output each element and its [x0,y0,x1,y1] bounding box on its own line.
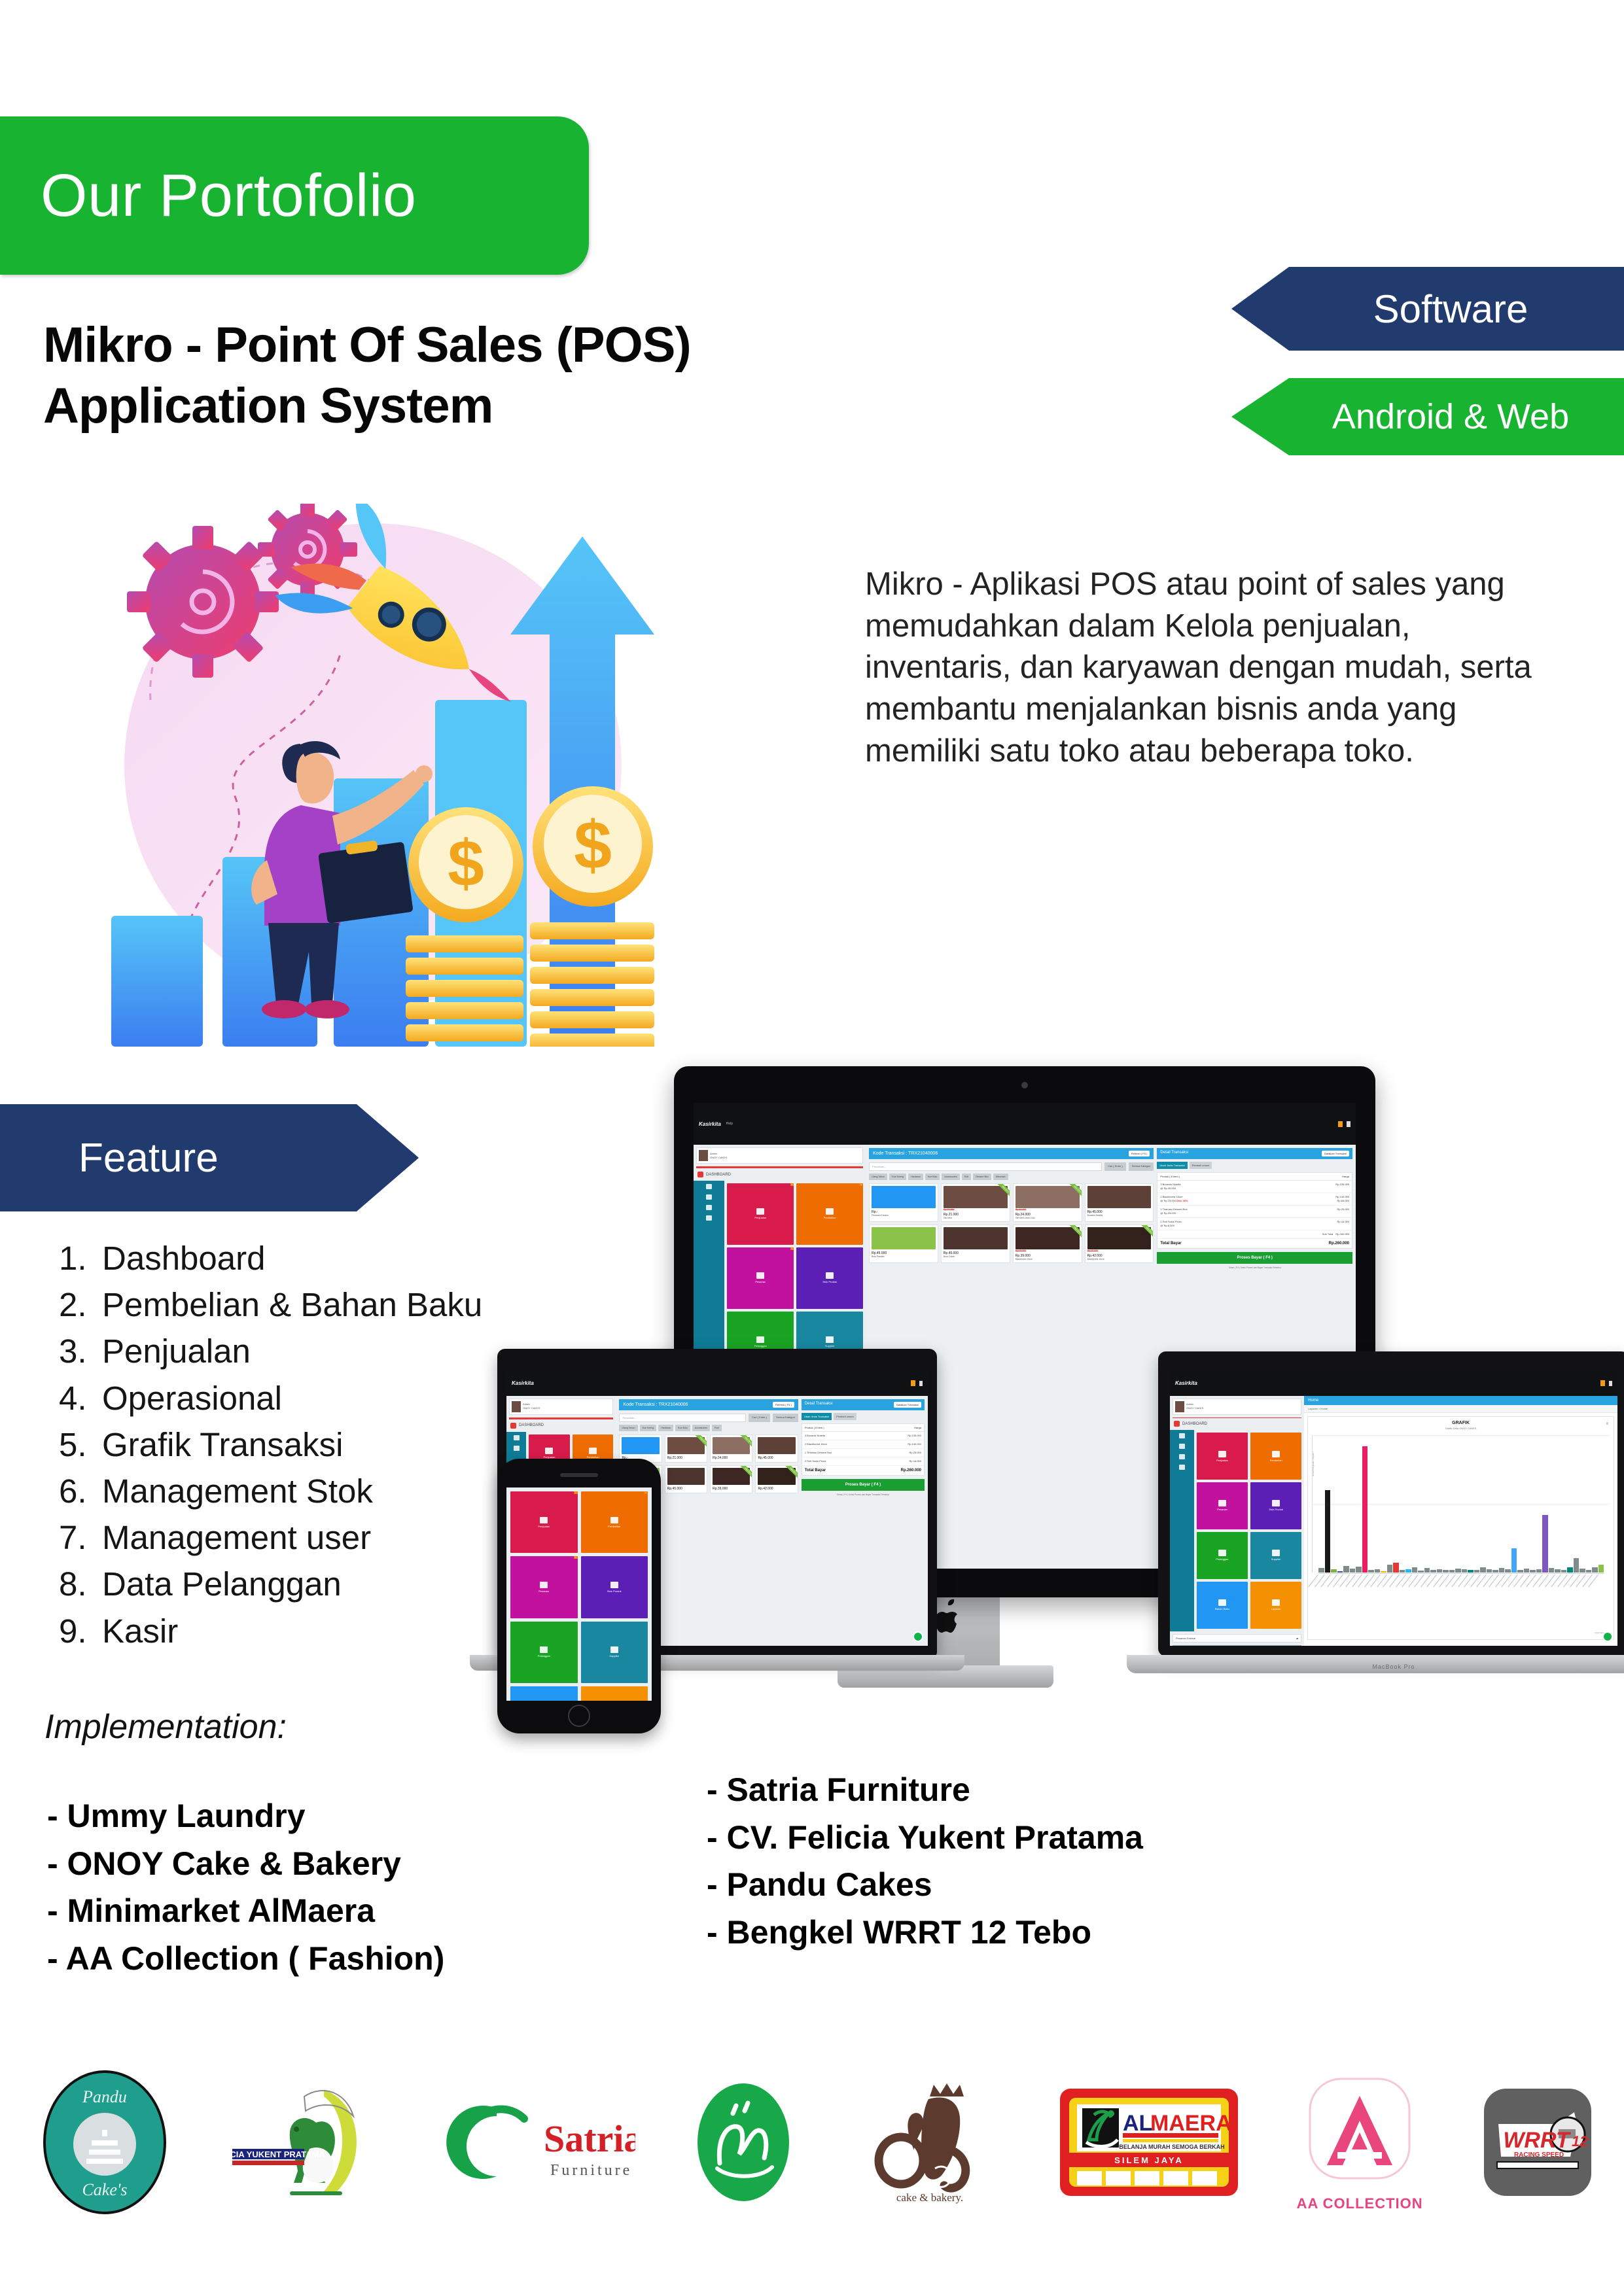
notification-icon[interactable] [911,1380,915,1386]
list-item: 3.Penjualan [59,1328,556,1374]
category-tab[interactable]: Dessert Box [973,1174,991,1180]
tile-label: Pesanan [538,1590,549,1593]
chart-bar [1574,1558,1580,1573]
chart-bar [1443,1570,1449,1573]
buyer-selector[interactable]: Pembeli umum [834,1413,856,1420]
chart-bar [1480,1567,1486,1573]
tile-label: Pelanggan [538,1654,550,1658]
chart-subtitle: Grafik Data ONOY CAKES [1312,1427,1610,1430]
chart-bar [1393,1563,1399,1573]
product-name: Pesanan Khusus [872,1214,936,1217]
product-old-price: Rp.70.000 [1087,1249,1152,1252]
product-price: Rp.42.000 [758,1487,795,1491]
user-card: AdminONOY CAKES [509,1399,613,1415]
feature-item-label: Operasional [102,1380,282,1417]
table-row: 2 Roti Sosis Pizza@ Rp.8.000Rp.16.000 [1157,1218,1352,1230]
tile-label: Laporan [1271,1607,1281,1610]
svg-text:Cake's: Cake's [82,2180,127,2199]
order-icon [540,1582,548,1588]
tile-label: Penjualan [538,1525,550,1528]
menu-tile-grid: Penjualan Pembelian Pesanan Stok Produk … [1194,1430,1304,1631]
page-title-line2: Application System [43,376,959,437]
user-store: ONOY CAKES [523,1406,540,1410]
svg-text:MAERA: MAERA [1150,2111,1232,2136]
search-button[interactable]: Cari ( Enter ) [1104,1162,1126,1171]
dashboard-icon [510,1423,516,1429]
chart-icon[interactable] [1179,1454,1185,1459]
cart-icon [826,1208,834,1215]
category-tab[interactable]: Accessories [942,1174,959,1180]
logo-satria-furniture: Satria Furniture [446,2083,635,2201]
tile-penjualan[interactable]: 0Penjualan [510,1491,578,1553]
tile-label: Penjualan [754,1216,766,1219]
product-card[interactable]: Disc 40 %Rp.65.000Rp.39.000Blackforest 1… [1013,1225,1082,1263]
chart-xtick-labels [1312,1574,1610,1592]
table-row: 3 Brownis NutellaRp.135.000 [802,1432,924,1440]
truck-icon: ▰ [1296,1637,1298,1640]
tile-pesanan[interactable]: 0Pesanan [510,1556,578,1618]
product-card[interactable]: Disc 40 %Rp.42.000 [755,1465,798,1493]
detail-title: Detail Transaksi [1160,1151,1188,1157]
badge-platform: Android & Web [1231,378,1624,455]
chart-bar [1567,1567,1573,1573]
tile-label: Pelanggan [754,1344,767,1348]
product-name: Bolu Pandan [872,1255,936,1258]
chart-bar [1499,1568,1505,1573]
pay-note: Tekan ( F4 ) Untuk Proses dan Bayar Tran… [1157,1266,1352,1270]
logo-pandu-cake: Pandu Cake's [39,2067,170,2218]
cancel-transaction-button[interactable]: Batalkan Transaksi [894,1402,921,1408]
cart-icon[interactable] [706,1184,712,1189]
chart-ylabel: Jumlah Penjualan ( Rupiah ) [1312,1452,1315,1476]
avatar [699,1150,708,1161]
chart-bar [1387,1565,1393,1573]
cart-icon [610,1517,618,1523]
device-mockups: Kasirkita Help Admin ONOY [497,1066,1624,1720]
chart-bar [1586,1570,1592,1573]
tile-label: Bahan Baku [1215,1607,1229,1610]
cart-icon [540,1517,548,1523]
user-icon[interactable] [919,1381,923,1386]
tile-pelanggan[interactable]: Pelanggan [510,1622,578,1683]
chart-bar [1598,1565,1604,1573]
user-card: Admin ONOY CAKES [696,1147,863,1164]
transaction-header: Kode Transaksi : TRX21040006 Refresh ( F… [869,1148,1154,1159]
product-image [1015,1227,1080,1249]
badge-software-label: Software [1373,287,1528,332]
column-header-product: Produk ( 8 Item ) [805,1426,824,1429]
cart-icon [1218,1451,1226,1457]
product-image [944,1227,1008,1249]
detail-header: Detail Transaksi Batalkan Transaksi [1157,1148,1352,1159]
feature-item-label: Dashboard [102,1240,266,1277]
list-item: - AA Collection ( Fashion) [47,1935,636,1983]
chart-plot-area: Jumlah Penjualan ( Rupiah ) [1312,1435,1610,1573]
logo-wrrt-12-tebo: WRRT 12 RACING SPEED [1479,2083,1597,2201]
tile-supplier[interactable]: Supplier [581,1622,648,1683]
app-topbar: Kasirkita [506,1371,928,1396]
cancel-transaction-button[interactable]: Batalkan Transaksi [1322,1151,1349,1157]
product-card[interactable]: Disc 40 %Rp.35.000Rp.21.000Tart Mini [941,1183,1010,1222]
product-image [758,1437,795,1454]
user-store: ONOY CAKES [1186,1406,1203,1410]
search-button[interactable]: Cari ( Enter ) [749,1414,770,1422]
refresh-button[interactable]: Refresh ( F5 ) [773,1402,794,1408]
chart-bar [1468,1570,1474,1573]
implementation-list-right: - Satria Furniture - CV. Felicia Yukent … [707,1766,1361,1956]
chart-bar [1430,1570,1436,1572]
chart-bar [1381,1571,1386,1573]
total-label: Total Bayar [1160,1242,1181,1245]
category-tab[interactable]: Accessories [692,1425,710,1431]
product-card[interactable]: Disc 40 %Rp.40.000Rp.24.000Tart Mini Leb… [1013,1183,1082,1222]
product-card[interactable]: Disc 40 %Rp.21.000 [665,1435,707,1463]
list-item: 5.Grafik Transaksi [59,1421,556,1468]
detail-title: Detail Transaksi [805,1402,833,1408]
feature-list: 1.Dashboard 2.Pembelian & Bahan Baku 3.P… [59,1235,556,1654]
sidebar-item-dashboard[interactable]: DASHBOARD [506,1419,616,1432]
phone-screen: 0Penjualan 0Pembelian 0Pesanan Stok Prod… [506,1487,652,1701]
tile-stok-produk[interactable]: Stok Produk [581,1556,648,1618]
user-card: AdminONOY CAKES [1173,1399,1301,1415]
chart-card: GRAFIK Grafik Data ONOY CAKES ≡ Jumlah P… [1307,1416,1614,1640]
tile-pembelian[interactable]: 0Pembelian [581,1491,648,1553]
list-item: 2.Pembelian & Bahan Baku [59,1281,556,1328]
tile-supplier[interactable]: Supplier [1250,1532,1301,1579]
category-tab[interactable]: Kue Kering [889,1174,906,1180]
total-value: Rp.260.000 [1329,1242,1349,1245]
order-icon [756,1272,764,1279]
user-icon [540,1646,548,1653]
user-icon[interactable] [1609,1381,1612,1386]
total-row: Total BayarRp.260.000 [1157,1239,1352,1248]
phone-speaker [560,1473,598,1477]
list-item: - CV. Felicia Yukent Pratama [707,1814,1361,1862]
product-card[interactable]: Rp.45.000Brownis Nutella [1085,1183,1154,1222]
category-tab[interactable]: Hantaran [658,1425,673,1431]
tile-label: Penjualan [1216,1459,1228,1462]
product-card[interactable]: Rp.45.000 [665,1465,707,1493]
product-card[interactable]: Rp.45.000 [755,1435,798,1463]
sidebar-item-dashboard[interactable]: DASHBOARD [694,1168,866,1181]
list-item: 4.Operasional [59,1375,556,1421]
chart-bar [1549,1568,1555,1573]
chart-bars [1318,1435,1604,1573]
feature-item-label: Data Pelanggan [102,1565,342,1603]
list-item: - Bengkel WRRT 12 Tebo [707,1909,1361,1957]
table-row: 1 Tiramisu Dessert BoxRp.25.000 [802,1449,924,1457]
tile-label: Stok Produk [1269,1508,1283,1511]
tile-label: Pembelian [608,1525,620,1528]
tile-label: Pembelian [824,1216,836,1219]
chart-menu-icon[interactable]: ≡ [1606,1422,1608,1426]
tile-stok-produk[interactable]: Stok Produk [1250,1482,1301,1529]
tile-laporan[interactable]: Laporan [581,1686,648,1701]
settings-icon[interactable] [706,1215,712,1221]
tile-label: Pelanggan [1216,1557,1228,1561]
product-name: Tart Mini Lebih Coki [1015,1217,1080,1219]
user-icon [610,1646,618,1653]
chart-bar [1561,1570,1567,1573]
pay-button[interactable]: Proses Bayar ( F4 ) [1157,1252,1352,1264]
tile-bahan-baku[interactable]: Bahan Baku [510,1686,578,1701]
feature-banner: Feature [0,1104,419,1211]
list-item: - ONOY Cake & Bakery [47,1840,636,1888]
product-price: Rp.24.000 [713,1456,750,1460]
product-old-price: Rp.35.000 [944,1208,1008,1211]
product-card[interactable]: Rp.45.000Bolu Pandan [869,1225,938,1263]
cart-icon[interactable] [1179,1433,1185,1438]
product-image [1087,1186,1152,1208]
category-tab[interactable]: Minuman [993,1174,1008,1180]
chart-bar [1474,1570,1480,1572]
chart-bar [1362,1446,1368,1573]
list-item: 6.Management Stok [59,1468,556,1514]
product-image [667,1468,705,1485]
category-filter-button[interactable]: Semua Kategori [773,1414,798,1422]
box-icon[interactable] [706,1194,712,1200]
chart-bar [1437,1569,1443,1573]
svg-text:SILEM JAYA: SILEM JAYA [1115,2155,1184,2165]
table-row: 2 Blackforest 15cm@ Rp.75.000 Disc 40%Rp… [1157,1193,1352,1206]
chart-bar [1331,1569,1337,1573]
chart-bar [1462,1569,1468,1573]
category-tab[interactable]: Kue Bolu [675,1425,690,1431]
document-icon [1218,1599,1226,1606]
chart-bar [1350,1569,1356,1573]
category-tab[interactable]: Roti [962,1174,971,1180]
floating-action-button[interactable] [913,1631,923,1642]
list-item: 8.Data Pelanggan [59,1561,556,1607]
chart-icon[interactable] [706,1205,712,1210]
category-tabs: Ulang Tahun Kue Kering Hantaran Kue Bolu… [619,1425,798,1431]
category-tab[interactable]: Ulang Tahun [619,1425,637,1431]
product-name: Blackforest 15cm [1015,1258,1080,1261]
chart-bar [1343,1566,1349,1573]
implementation-label: Implementation: [44,1707,287,1747]
pay-button[interactable]: Proses Bayar ( F4 ) [802,1479,925,1491]
app-topbar: Kasirkita [1170,1371,1617,1396]
notification-icon[interactable] [1600,1380,1605,1386]
laptop-right-screen: Kasirkita AdminONOY CAKES DASHBOARD [1170,1371,1617,1646]
detail-panel: Detail Transaksi Batalkan Transaksi Ubah… [802,1396,928,1646]
box-icon [826,1272,834,1279]
svg-text:RACING SPEED: RACING SPEED [1514,2151,1564,2159]
settings-icon[interactable] [1179,1465,1185,1470]
chart-bar [1455,1569,1461,1573]
buyer-selector[interactable]: Pembeli umum [1190,1162,1212,1169]
tile-label: Pesanan [1217,1508,1227,1511]
app-brand-logo: Kasirkita [1175,1380,1197,1386]
category-tab[interactable]: Kue Bolu [925,1174,940,1180]
change-transaction-type-button[interactable]: Ubah Jenis Transaksi [802,1413,832,1420]
user-icon [756,1336,764,1343]
product-description: Mikro - Aplikasi POS atau point of sales… [865,564,1565,772]
pay-note: Tekan ( F4 ) Untuk Proses dan Bayar Tran… [802,1493,925,1497]
category-filter-button[interactable]: Semua Kategori [1129,1162,1154,1171]
chart-bar [1530,1570,1536,1572]
chart-bar [1356,1567,1362,1572]
chart-page-header: Home [1304,1396,1617,1405]
sidebar-item-dashboard[interactable]: DASHBOARD [1170,1418,1304,1430]
sidebar-pesanan-selesai[interactable]: Pesanan Selesai▰ [1173,1634,1301,1643]
product-card[interactable]: Disc 40 %Rp.24.000 [710,1435,752,1463]
user-icon [1218,1550,1226,1556]
category-tab[interactable]: Roti [712,1425,721,1431]
implementation-list-left: - Ummy Laundry - ONOY Cake & Bakery - Mi… [47,1792,636,1982]
app-sidebar: AdminONOY CAKES DASHBOARD Penjualan Pemb… [1170,1396,1304,1646]
tile-penjualan[interactable]: Penjualan [1197,1433,1248,1480]
tile-label: Stok Produk [607,1590,622,1593]
sidebar-item-label: DASHBOARD [706,1173,731,1177]
search-input[interactable]: Pencarian... [869,1162,1102,1171]
floating-action-button[interactable] [1602,1631,1613,1642]
chart-bar [1405,1569,1411,1573]
sidebar-item-label: DASHBOARD [519,1423,544,1427]
feature-item-label: Kasir [102,1612,178,1650]
product-card[interactable]: Rp.-Pesanan Khusus [869,1183,938,1222]
svg-text:BELANJA MURAH SEMOGA BERKAH: BELANJA MURAH SEMOGA BERKAH [1120,2144,1225,2150]
cart-icon [589,1448,597,1454]
logo-almaera-minimarket: AL MAERA BELANJA MURAH SEMOGA BERKAH SIL… [1057,2077,1241,2208]
svg-text:cake & bakery.: cake & bakery. [896,2191,963,2204]
product-image [1087,1227,1152,1249]
chart-bar [1592,1567,1598,1573]
cart-icon[interactable] [514,1435,520,1440]
svg-text:$: $ [448,827,484,900]
total-label: Total Bayar [805,1469,826,1472]
avatar [1175,1401,1184,1412]
product-price: Rp.39.000 [713,1487,750,1491]
menu-tile-grid-mobile: 0Penjualan 0Pembelian 0Pesanan Stok Prod… [506,1487,652,1701]
tile-pesanan[interactable]: Pesanan [1197,1482,1248,1529]
tile-pesanan[interactable]: 0Pesanan [727,1247,794,1309]
svg-text:FELICIA YUKENT PRATAMA: FELICIA YUKENT PRATAMA [226,2149,325,2159]
chart-title: GRAFIK [1312,1421,1610,1425]
transaction-code: Kode Transaksi : TRX21040006 [623,1402,688,1407]
chart-bar [1536,1569,1542,1573]
tile-pembelian[interactable]: Pembelian [1250,1433,1301,1480]
order-icon [1218,1500,1226,1506]
product-image [622,1437,659,1454]
transaction-header: Kode Transaksi : TRX21040006 Refresh ( F… [619,1399,798,1410]
list-item: - Satria Furniture [707,1766,1361,1814]
product-old-price: Rp.65.000 [1015,1249,1080,1252]
tile-label: Supplier [1271,1557,1281,1561]
badge-software: Software [1231,267,1624,351]
logo-ummy-laundry [691,2077,796,2208]
tile-penjualan[interactable]: 0Penjualan [727,1183,794,1245]
phone-home-button[interactable] [568,1705,590,1727]
cart-icon [756,1208,764,1215]
portofolio-tab-label: Our Portofolio [41,162,417,230]
chart-bar [1418,1571,1424,1573]
chart-bar [1400,1570,1405,1572]
box-icon[interactable] [1179,1444,1185,1449]
feature-item-label: Grafik Transaksi [102,1426,343,1463]
client-logo-row: Pandu Cake's FELICIA YUKENT PRATAMA Satr… [39,2034,1597,2250]
tile-pelanggan[interactable]: Pelanggan [1197,1532,1248,1579]
chart-bar [1412,1567,1418,1573]
svg-text:Pandu: Pandu [82,2087,127,2106]
detail-header: Detail Transaksi Batalkan Transaksi [802,1399,925,1410]
table-row: 2 Roti Sosis PizzaRp.16.000 [802,1457,924,1466]
notification-icon[interactable] [1338,1121,1343,1127]
logo-onoy-cake-bakery: cake & bakery. [851,2077,1002,2208]
tile-label: Supplier [825,1344,835,1348]
product-card[interactable]: Disc 40 %Rp.39.000 [710,1465,752,1493]
chart-xtick [1598,1574,1604,1592]
column-header-price: Harga [1342,1175,1349,1178]
subtotal-row: Sub TotalRp.260.000 [1157,1230,1352,1239]
product-price: Rp.21.000 [667,1456,705,1460]
icon-rail [1170,1430,1194,1631]
app-topbar: Kasirkita Help [694,1103,1356,1145]
logo-aa-collection: AA COLLECTION [1297,2072,1423,2212]
chart-bar [1492,1570,1498,1573]
product-name: Brownis Nutella [1087,1214,1152,1217]
category-tab[interactable]: Kue Kering [640,1425,657,1431]
tile-bahan-baku[interactable]: Bahan Baku [1197,1582,1248,1629]
product-image [1015,1186,1080,1208]
chart-bar [1325,1490,1331,1573]
category-tab[interactable]: Ulang Tahun [869,1174,887,1180]
product-card[interactable]: Disc 40 %Rp.70.000Rp.42.000Blackforest 1… [1085,1225,1154,1263]
category-tab[interactable]: Hantaran [908,1174,923,1180]
page-title: Mikro - Point Of Sales (POS) Application… [43,315,959,436]
product-old-price: Rp.40.000 [1015,1208,1080,1211]
chart-bar [1517,1570,1523,1573]
svg-text:Furniture: Furniture [550,2162,632,2179]
tile-stok-produk[interactable]: Stok Produk [796,1247,863,1309]
chart-bar [1487,1569,1492,1573]
chart-bar [1542,1515,1548,1572]
product-card[interactable]: Rp.45.000Bolu Cokat [941,1225,1010,1263]
search-input[interactable]: Pencarian... [619,1414,746,1422]
portofolio-tab: Our Portofolio [0,116,589,275]
detail-table: Produk ( 8 Item )Harga 3 Brownis Nutella… [802,1423,925,1476]
list-item: - Minimarket AlMaera [47,1887,636,1935]
user-icon [826,1336,834,1343]
chart-bar [1511,1548,1517,1573]
chart-page: Home Laporan > Home GRAFIK Grafik Data O… [1304,1396,1617,1646]
transaction-code: Kode Transaksi : TRX21040006 [873,1151,938,1156]
tile-laporan[interactable]: Laporan [1250,1582,1301,1629]
feature-item-label: Penjualan [102,1332,251,1370]
detail-table: Produk ( 8 Item )Harga 3 Brownis Nutella… [1157,1172,1352,1249]
tile-label: Pembelian [1270,1459,1282,1462]
tile-pembelian[interactable]: 0Pembelian [796,1183,863,1245]
svg-text:$: $ [574,808,612,884]
box-icon[interactable] [514,1446,520,1451]
user-icon[interactable] [1347,1121,1350,1127]
list-item: 1.Dashboard [59,1235,556,1281]
feature-item-label: Management Stok [102,1472,373,1510]
topbar-help-menu[interactable]: Help [726,1122,733,1126]
growth-rocket-illustration: $ $ [98,504,674,1047]
pos-app-chart: Kasirkita AdminONOY CAKES DASHBOARD [1170,1371,1617,1646]
user-icon [1272,1550,1280,1556]
change-transaction-type-button[interactable]: Ubah Jenis Transaksi [1157,1162,1187,1169]
product-name: Blackforest 16cm [1087,1258,1152,1261]
badge-platform-label: Android & Web [1332,396,1569,437]
sidebar-item-label: Pesanan Selesai [1176,1637,1195,1640]
svg-text:12: 12 [1572,2133,1588,2149]
list-item: - Ummy Laundry [47,1792,636,1840]
chart-bar [1368,1570,1374,1573]
refresh-button[interactable]: Refresh ( F5 ) [1129,1151,1150,1157]
svg-text:AL: AL [1123,2111,1152,2136]
